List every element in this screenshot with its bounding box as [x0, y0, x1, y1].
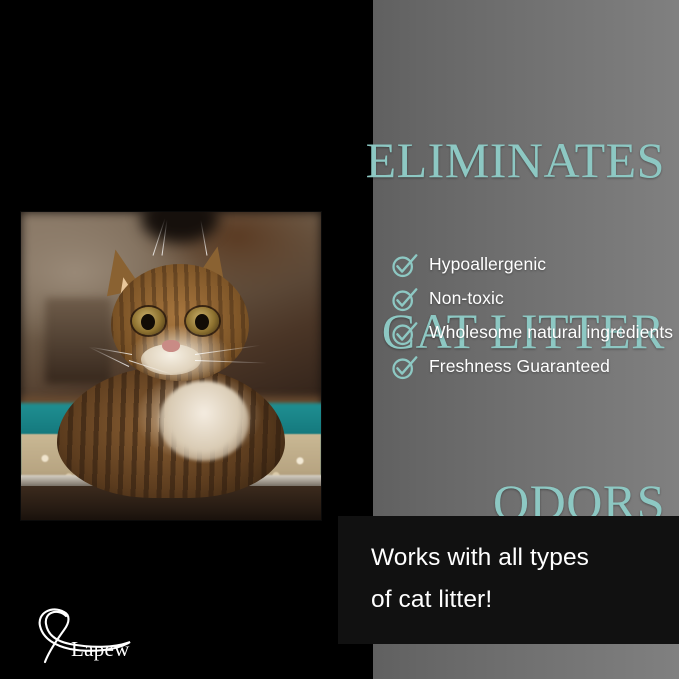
benefit-label: Freshness Guaranteed [429, 352, 610, 381]
check-circle-icon [390, 353, 418, 381]
list-item: Freshness Guaranteed [390, 352, 674, 381]
benefit-label: Non-toxic [429, 284, 504, 313]
benefit-label: Hypoallergenic [429, 250, 546, 279]
list-item: Non-toxic [390, 284, 674, 313]
brand-logo: Lapew [26, 604, 166, 666]
list-item: Hypoallergenic [390, 250, 674, 279]
headline-line-1: ELIMINATES [245, 132, 665, 189]
kitten-chest [159, 381, 249, 461]
callout-box: Works with all types of cat litter! [338, 516, 679, 644]
list-item: Wholesome natural ingredients [390, 318, 674, 347]
kitten-subject [21, 212, 321, 520]
brand-name: Lapew [71, 637, 130, 662]
photo-scene [21, 212, 321, 520]
check-circle-icon [390, 319, 418, 347]
product-ad-image: ELIMINATES CAT LITTER ODORS [0, 0, 679, 679]
benefits-list: Hypoallergenic Non-toxic Wholesome natur… [390, 250, 674, 386]
check-circle-icon [390, 251, 418, 279]
product-photo [21, 212, 321, 520]
callout-text: Works with all types of cat litter! [371, 537, 669, 621]
check-circle-icon [390, 285, 418, 313]
benefit-label: Wholesome natural ingredients [429, 318, 673, 347]
